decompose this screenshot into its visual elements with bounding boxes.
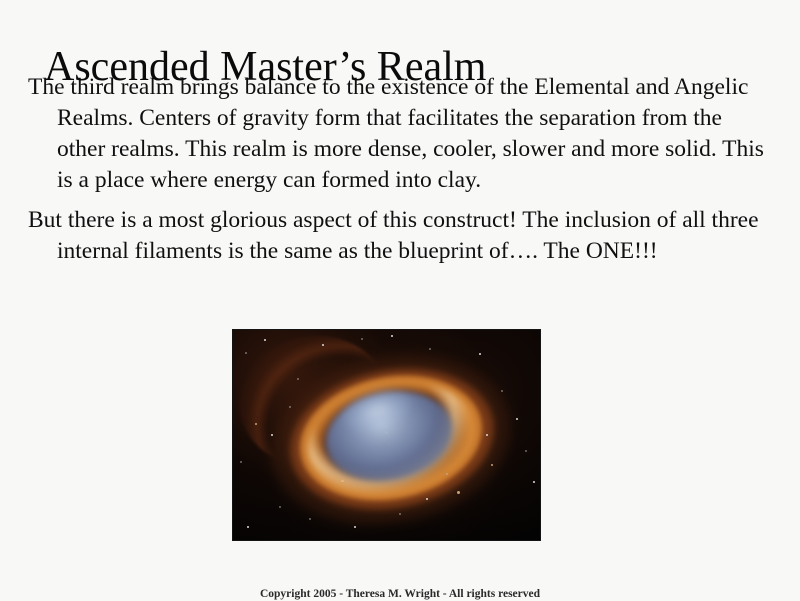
body-paragraph-2: But there is a most glorious aspect of t… — [28, 205, 770, 267]
star — [501, 390, 503, 392]
star — [341, 480, 344, 482]
star — [391, 335, 393, 337]
star — [322, 344, 324, 346]
slide: Ascended Master’s Realm The third realm … — [0, 0, 800, 600]
star — [426, 498, 428, 500]
star — [271, 434, 273, 436]
star — [279, 506, 281, 508]
star — [533, 481, 535, 483]
star — [491, 464, 493, 466]
star — [354, 526, 356, 528]
star — [309, 518, 311, 520]
star — [486, 434, 488, 436]
star — [297, 378, 299, 380]
star — [479, 353, 481, 355]
star — [247, 526, 249, 528]
star — [264, 339, 266, 341]
star — [457, 491, 460, 494]
star — [240, 461, 242, 463]
star — [289, 406, 291, 408]
copyright-notice: Copyright 2005 - Theresa M. Wright - All… — [0, 588, 800, 601]
body-paragraph-1: The third realm brings balance to the ex… — [28, 72, 770, 196]
nebula-central-star — [385, 431, 388, 434]
star — [446, 473, 448, 475]
slide-body: The third realm brings balance to the ex… — [28, 72, 770, 276]
star — [245, 352, 247, 354]
star — [255, 423, 257, 425]
star — [429, 348, 431, 350]
star — [361, 338, 363, 340]
star — [516, 418, 518, 420]
ring-nebula-photo — [233, 330, 540, 540]
star — [525, 450, 527, 452]
star — [399, 513, 401, 515]
